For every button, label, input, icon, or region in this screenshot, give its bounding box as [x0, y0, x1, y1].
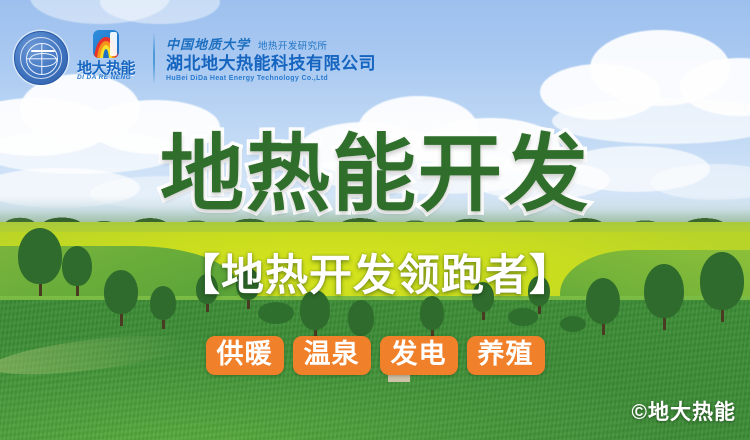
logo-pinyin: DI DA RE NENG: [77, 74, 139, 81]
bush: [258, 302, 294, 324]
globe-grid-icon: [26, 43, 58, 75]
service-tag-list: 供暖 温泉 发电 养殖: [0, 336, 750, 375]
page-title: 地热能开发: [0, 131, 750, 217]
bush: [508, 308, 538, 326]
company-name-cn: 湖北地大热能科技有限公司: [166, 54, 376, 74]
university-name: 中国地质大学: [166, 34, 250, 53]
service-tag-heating[interactable]: 供暖: [206, 336, 284, 375]
service-tag-power[interactable]: 发电: [380, 336, 458, 375]
service-tag-aquaculture[interactable]: 养殖: [467, 336, 545, 375]
didaneng-logo: 地大热能 DI DA RE NENG: [77, 30, 139, 86]
globe-ellipse: [29, 53, 57, 67]
rainbow-tile-logo-icon: [93, 30, 119, 58]
service-tag-hotspring[interactable]: 温泉: [293, 336, 371, 375]
copyright-watermark: ©地大热能: [632, 396, 736, 426]
brand-divider: [153, 33, 155, 83]
brand-header: 地大热能 DI DA RE NENG 中国地质大学 地热开发研究所 湖北地大热能…: [14, 30, 376, 86]
company-name-en: HuBei DiDa Heat Energy Technology Co.,Lt…: [166, 75, 376, 82]
tree: [420, 296, 444, 339]
geothermal-promo-banner: 地大热能 DI DA RE NENG 中国地质大学 地热开发研究所 湖北地大热能…: [0, 0, 750, 440]
page-subtitle: 【地热开发领跑者】: [0, 253, 750, 299]
bush: [560, 316, 586, 332]
brand-text-block: 中国地质大学 地热开发研究所 湖北地大热能科技有限公司 HuBei DiDa H…: [166, 34, 376, 82]
institute-name: 地热开发研究所: [258, 38, 327, 52]
university-seal-icon: [14, 31, 68, 85]
